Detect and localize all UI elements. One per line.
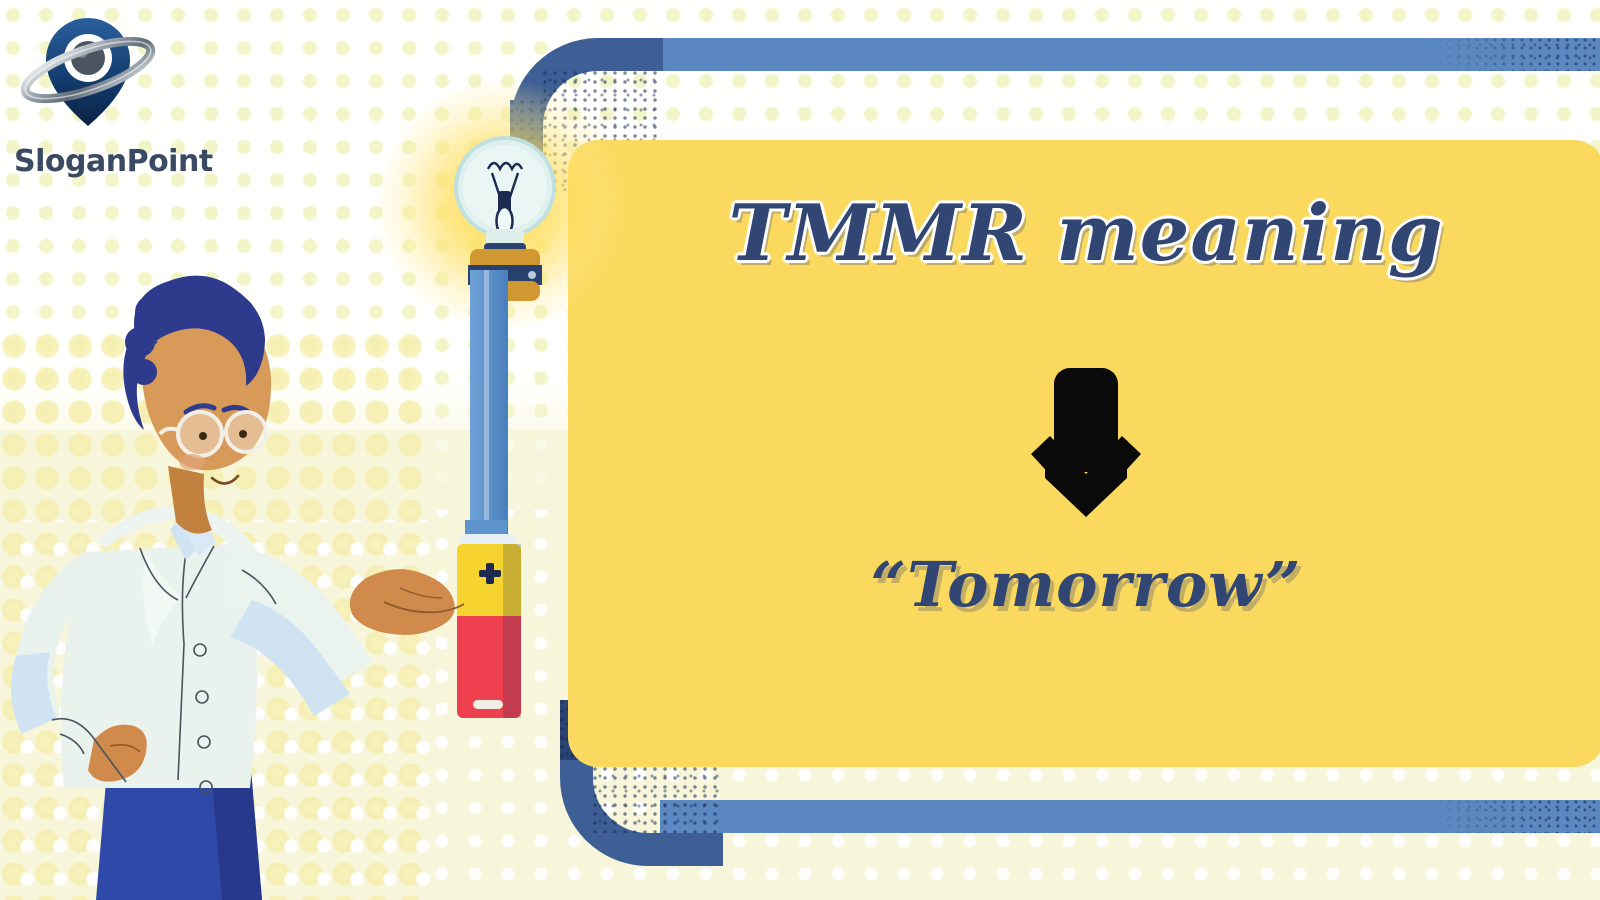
scientist-illustration <box>0 180 470 900</box>
location-pin-planet-icon <box>8 10 208 150</box>
arrow-down-icon <box>1021 362 1151 522</box>
brand-name: SloganPoint <box>14 144 213 179</box>
content-card: TMMR meaning “Tomorrow” <box>568 140 1600 767</box>
frame-bar-bottom <box>660 800 1600 833</box>
frame-bar-top-stipple <box>1430 38 1600 71</box>
page-subtitle: “Tomorrow” <box>568 548 1600 621</box>
frame-bar-bottom-stipple <box>1430 800 1600 833</box>
right-hand <box>350 569 455 635</box>
poster-canvas: TMMR meaning “Tomorrow” <box>0 0 1600 900</box>
neck <box>168 466 212 534</box>
connector-tube <box>470 270 508 540</box>
brand-logo[interactable]: SloganPoint <box>8 10 218 180</box>
page-title: TMMR meaning <box>568 188 1600 279</box>
connector-tube-highlight <box>484 270 489 538</box>
frame-bar-top <box>600 38 1600 71</box>
